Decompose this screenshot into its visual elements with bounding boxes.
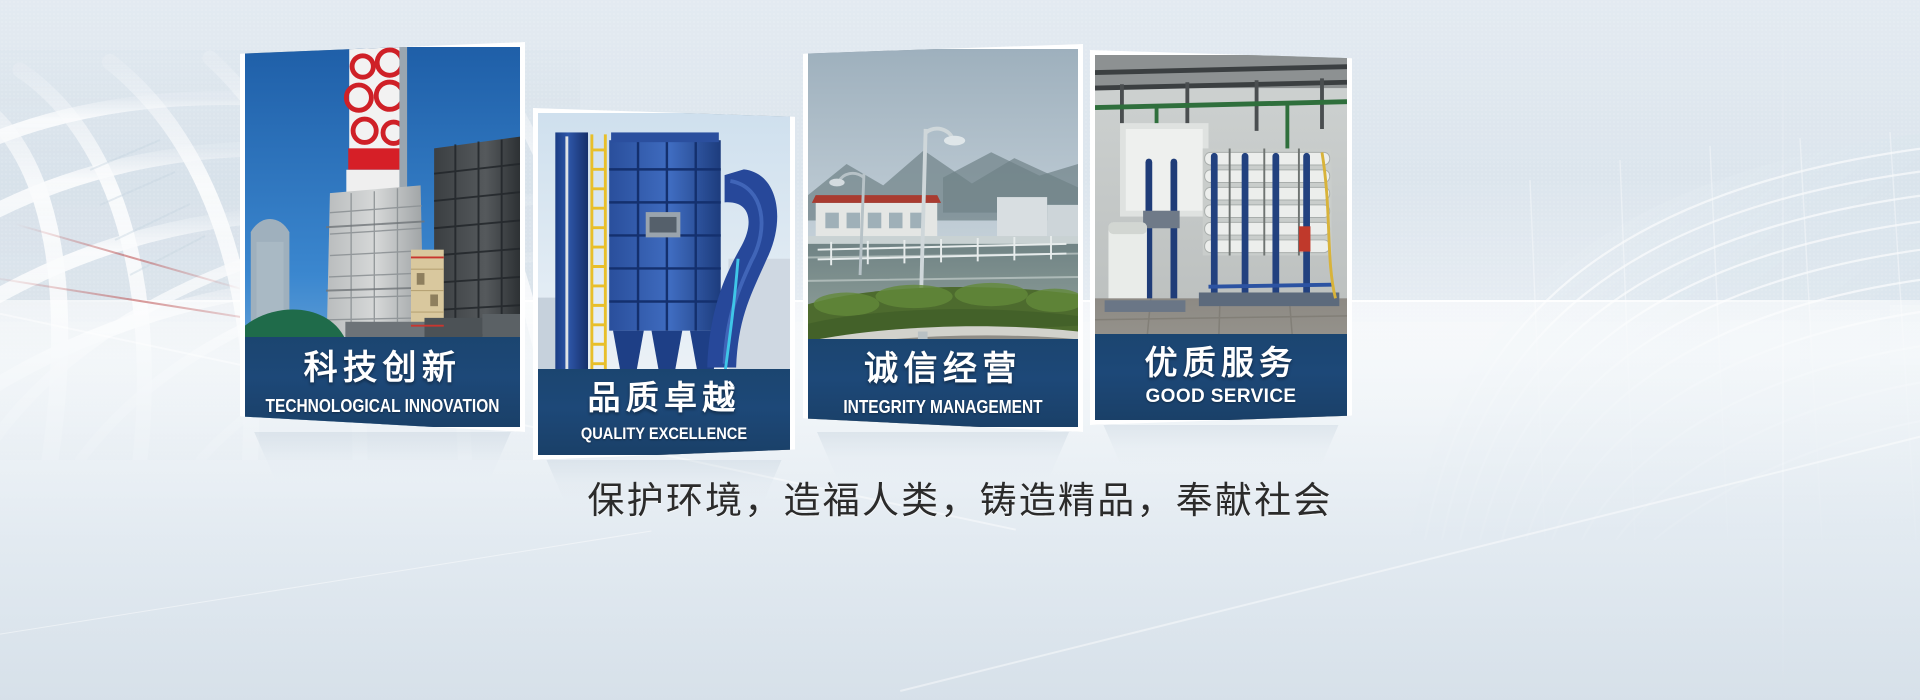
panel-title-en: INTEGRITY MANAGEMENT (827, 398, 1059, 416)
panel-caption-integrity-management: 诚信经营 INTEGRITY MANAGEMENT (808, 339, 1078, 427)
panel-title-en: GOOD SERVICE (1095, 387, 1347, 406)
panel-title-zh: 诚信经营 (808, 352, 1078, 386)
feature-panel-quality-excellence[interactable]: 品质卓越 QUALITY EXCELLENCE (533, 108, 795, 460)
banner-slogan: 保护环境，造福人类，铸造精品，奉献社会 (0, 470, 1920, 524)
panel-title-zh: 品质卓越 (538, 381, 790, 414)
panel-caption-quality-excellence: 品质卓越 QUALITY EXCELLENCE (538, 369, 790, 455)
panel-caption-technological-innovation: 科技创新 TECHNOLOGICAL INNOVATION (245, 337, 520, 427)
panel-title-en: QUALITY EXCELLENCE (556, 425, 773, 442)
panel-caption-good-service: 优质服务 GOOD SERVICE (1095, 334, 1347, 420)
panel-title-zh: 科技创新 (245, 351, 520, 385)
feature-panel-integrity-management[interactable]: 诚信经营 INTEGRITY MANAGEMENT (803, 44, 1083, 432)
feature-panel-good-service[interactable]: 优质服务 GOOD SERVICE (1090, 50, 1352, 425)
background-vertical-streak (1782, 0, 1784, 700)
panel-title-zh: 优质服务 (1095, 346, 1347, 379)
hero-banner: 科技创新 TECHNOLOGICAL INNOVATION (0, 0, 1920, 700)
panel-title-en: TECHNOLOGICAL INNOVATION (264, 397, 501, 415)
feature-panel-technological-innovation[interactable]: 科技创新 TECHNOLOGICAL INNOVATION (240, 42, 525, 432)
